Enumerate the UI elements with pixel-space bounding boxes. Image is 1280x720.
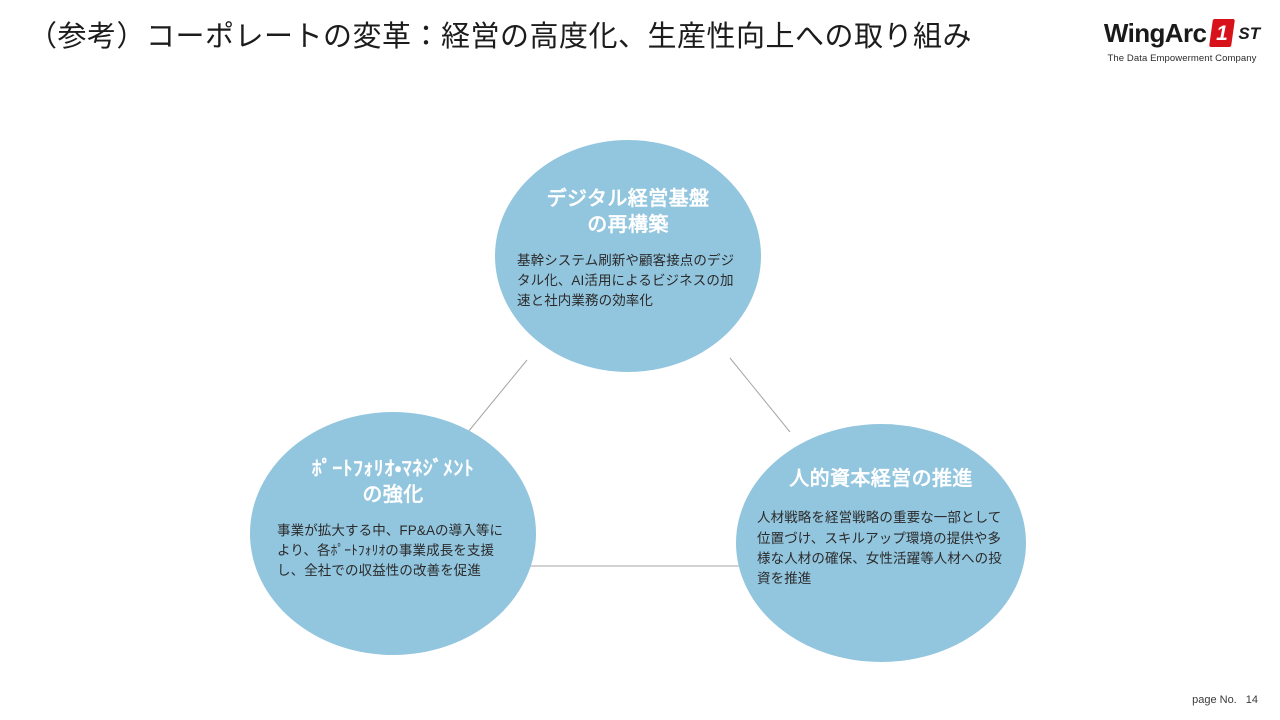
page-footer: page No. 14 [1192, 694, 1258, 706]
connector-top-to-left [468, 360, 527, 432]
circle-portfolio-management[interactable]: ﾎﾟｰﾄﾌｫﾘｵ・ﾏﾈｼﾞﾒﾝﾄ の強化 事業が拡大する中、FP&Aの導入等によ… [250, 412, 536, 655]
logo-tagline: The Data Empowerment Company [1098, 53, 1266, 64]
circle-body-text: 事業が拡大する中、FP&Aの導入等により、各ﾎﾟｰﾄﾌｫﾘｵの事業成長を支援し、… [277, 521, 509, 582]
page-number-value: 14 [1246, 694, 1258, 706]
logo-suffix-text: ST [1238, 25, 1260, 42]
circle-body-text: 基幹システム刷新や顧客接点のデジタル化、AI活用によるビジネスの加速と社内業務の… [517, 251, 739, 312]
connector-top-to-right [730, 358, 790, 432]
logo-wordmark-text: WingArc [1104, 20, 1206, 46]
logo-badge-number: 1 [1211, 19, 1233, 47]
slide-canvas: （参考）コーポレートの変革：経営の高度化、生産性向上への取り組み WingArc… [0, 0, 1280, 720]
circle-heading: ﾎﾟｰﾄﾌｫﾘｵ・ﾏﾈｼﾞﾒﾝﾄ の強化 [312, 456, 474, 509]
page-number-label: page No. [1192, 694, 1237, 706]
logo-wordmark: WingArc 1 ST [1098, 18, 1266, 48]
wingarc-logo: WingArc 1 ST The Data Empowerment Compan… [1098, 18, 1266, 64]
circle-heading: デジタル経営基盤 の再構築 [547, 186, 710, 239]
circle-human-capital-management[interactable]: 人的資本経営の推進 人材戦略を経営戦略の重要な一部として位置づけ、スキルアップ環… [736, 424, 1026, 662]
page-title: （参考）コーポレートの変革：経営の高度化、生産性向上への取り組み [28, 19, 972, 55]
circle-digital-management-foundation[interactable]: デジタル経営基盤 の再構築 基幹システム刷新や顧客接点のデジタル化、AI活用によ… [495, 140, 761, 372]
circle-heading: 人的資本経営の推進 [789, 466, 973, 492]
logo-badge-icon: 1 [1209, 19, 1235, 47]
circle-body-text: 人材戦略を経営戦略の重要な一部として位置づけ、スキルアップ環境の提供や多様な人材… [757, 508, 1005, 589]
